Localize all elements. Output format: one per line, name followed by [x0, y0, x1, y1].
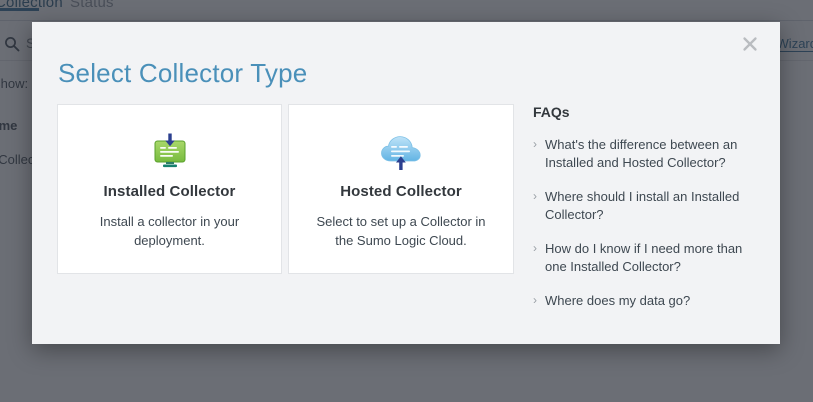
chevron-right-icon: ›	[533, 188, 545, 224]
faq-item-label: Where should I install an Installed Coll…	[545, 188, 763, 224]
hosted-collector-title: Hosted Collector	[340, 183, 462, 200]
hosted-collector-description: Select to set up a Collector in the Sumo…	[311, 212, 491, 250]
faq-item-label: What's the difference between an Install…	[545, 136, 763, 172]
faq-section: FAQs › What's the difference between an …	[533, 104, 763, 310]
faq-item[interactable]: › Where should I install an Installed Co…	[533, 188, 763, 224]
faq-item[interactable]: › What's the difference between an Insta…	[533, 136, 763, 172]
faq-item-label: How do I know if I need more than one In…	[545, 240, 763, 276]
page-title: Select Collector Type	[58, 58, 307, 89]
close-icon[interactable]	[736, 30, 764, 58]
chevron-right-icon: ›	[533, 240, 545, 276]
faq-item-label: Where does my data go?	[545, 292, 690, 310]
chevron-right-icon: ›	[533, 292, 545, 310]
select-collector-type-dialog: Select Collector Type	[32, 22, 780, 344]
installed-collector-description: Install a collector in your deployment.	[80, 212, 260, 250]
installed-collector-monitor-icon	[152, 129, 188, 171]
faq-item[interactable]: › How do I know if I need more than one …	[533, 240, 763, 276]
installed-collector-title: Installed Collector	[104, 183, 236, 200]
faq-item[interactable]: › Where does my data go?	[533, 292, 763, 310]
hosted-collector-card[interactable]: Hosted Collector Select to set up a Coll…	[288, 104, 514, 274]
installed-collector-card[interactable]: Installed Collector Install a collector …	[57, 104, 282, 274]
faq-section-title: FAQs	[533, 104, 763, 120]
chevron-right-icon: ›	[533, 136, 545, 172]
hosted-collector-cloud-icon	[380, 129, 422, 171]
